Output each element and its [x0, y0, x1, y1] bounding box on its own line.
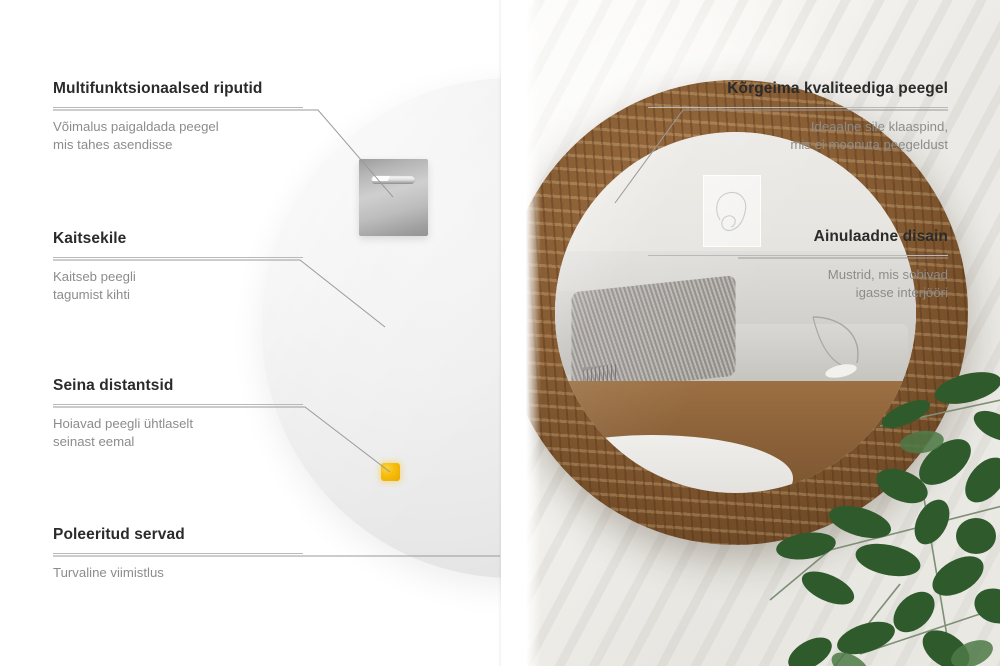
- callout-body-line2: igasse interjööri: [856, 285, 948, 300]
- callout-body-line2: seinast eemal: [53, 434, 134, 449]
- hanger-slot-icon: [371, 175, 415, 184]
- callout-rule: [53, 404, 303, 405]
- callout-body-line1: Võimalus paigaldada peegel: [53, 119, 219, 134]
- callout-body-line1: Hoiavad peegli ühtlaselt: [53, 416, 193, 431]
- wall-spacer-icon: [381, 463, 400, 481]
- callout-highest-quality-mirror: Kõrgeima kvaliteediga peegel Ideaalne si…: [648, 80, 948, 154]
- callout-rule: [53, 553, 303, 554]
- hanger-plate-icon: [359, 159, 428, 236]
- callout-body-line1: Kaitseb peegli: [53, 269, 136, 284]
- panel-seam-edge: [501, 0, 514, 666]
- callout-title: Ainulaadne disain: [648, 228, 948, 246]
- callout-title: Seina distantsid: [53, 377, 303, 395]
- callout-protective-film: Kaitsekile Kaitseb peegli tagumist kihti: [53, 230, 303, 304]
- callout-body-line1: Mustrid, mis sobivad: [828, 267, 948, 282]
- callout-body-line2: mis tahes asendisse: [53, 137, 172, 152]
- callout-body: Hoiavad peegli ühtlaselt seinast eemal: [53, 415, 303, 451]
- callout-body-line2: tagumist kihti: [53, 287, 130, 302]
- callout-unique-design: Ainulaadne disain Mustrid, mis sobivad i…: [648, 228, 948, 302]
- callout-title: Kõrgeima kvaliteediga peegel: [648, 80, 948, 98]
- callout-title: Multifunktsionaalsed riputid: [53, 80, 303, 98]
- callout-rule: [53, 107, 303, 108]
- callout-rule: [648, 107, 948, 108]
- callout-body: Mustrid, mis sobivad igasse interjööri: [648, 266, 948, 302]
- callout-body-line1: Turvaline viimistlus: [53, 565, 164, 580]
- callout-rule: [53, 257, 303, 258]
- callout-body-line1: Ideaalne sile klaaspind,: [811, 119, 948, 134]
- callout-body-line2: mis ei moonuta peegeldust: [790, 137, 948, 152]
- callout-body: Kaitseb peegli tagumist kihti: [53, 268, 303, 304]
- callout-rule: [648, 255, 948, 256]
- decorative-plant: [710, 354, 1000, 666]
- callout-polished-edges: Poleeritud servad Turvaline viimistlus: [53, 526, 303, 582]
- callout-wall-spacers: Seina distantsid Hoiavad peegli ühtlasel…: [53, 377, 303, 451]
- callout-body: Võimalus paigaldada peegel mis tahes ase…: [53, 118, 303, 154]
- callout-body: Turvaline viimistlus: [53, 564, 303, 582]
- leaves-icon: [710, 354, 1000, 666]
- infographic-canvas: Multifunktsionaalsed riputid Võimalus pa…: [0, 0, 1000, 666]
- callout-title: Kaitsekile: [53, 230, 303, 248]
- callout-body: Ideaalne sile klaaspind, mis ei moonuta …: [648, 118, 948, 154]
- callout-title: Poleeritud servad: [53, 526, 303, 544]
- callout-multifunctional-hangers: Multifunktsionaalsed riputid Võimalus pa…: [53, 80, 303, 154]
